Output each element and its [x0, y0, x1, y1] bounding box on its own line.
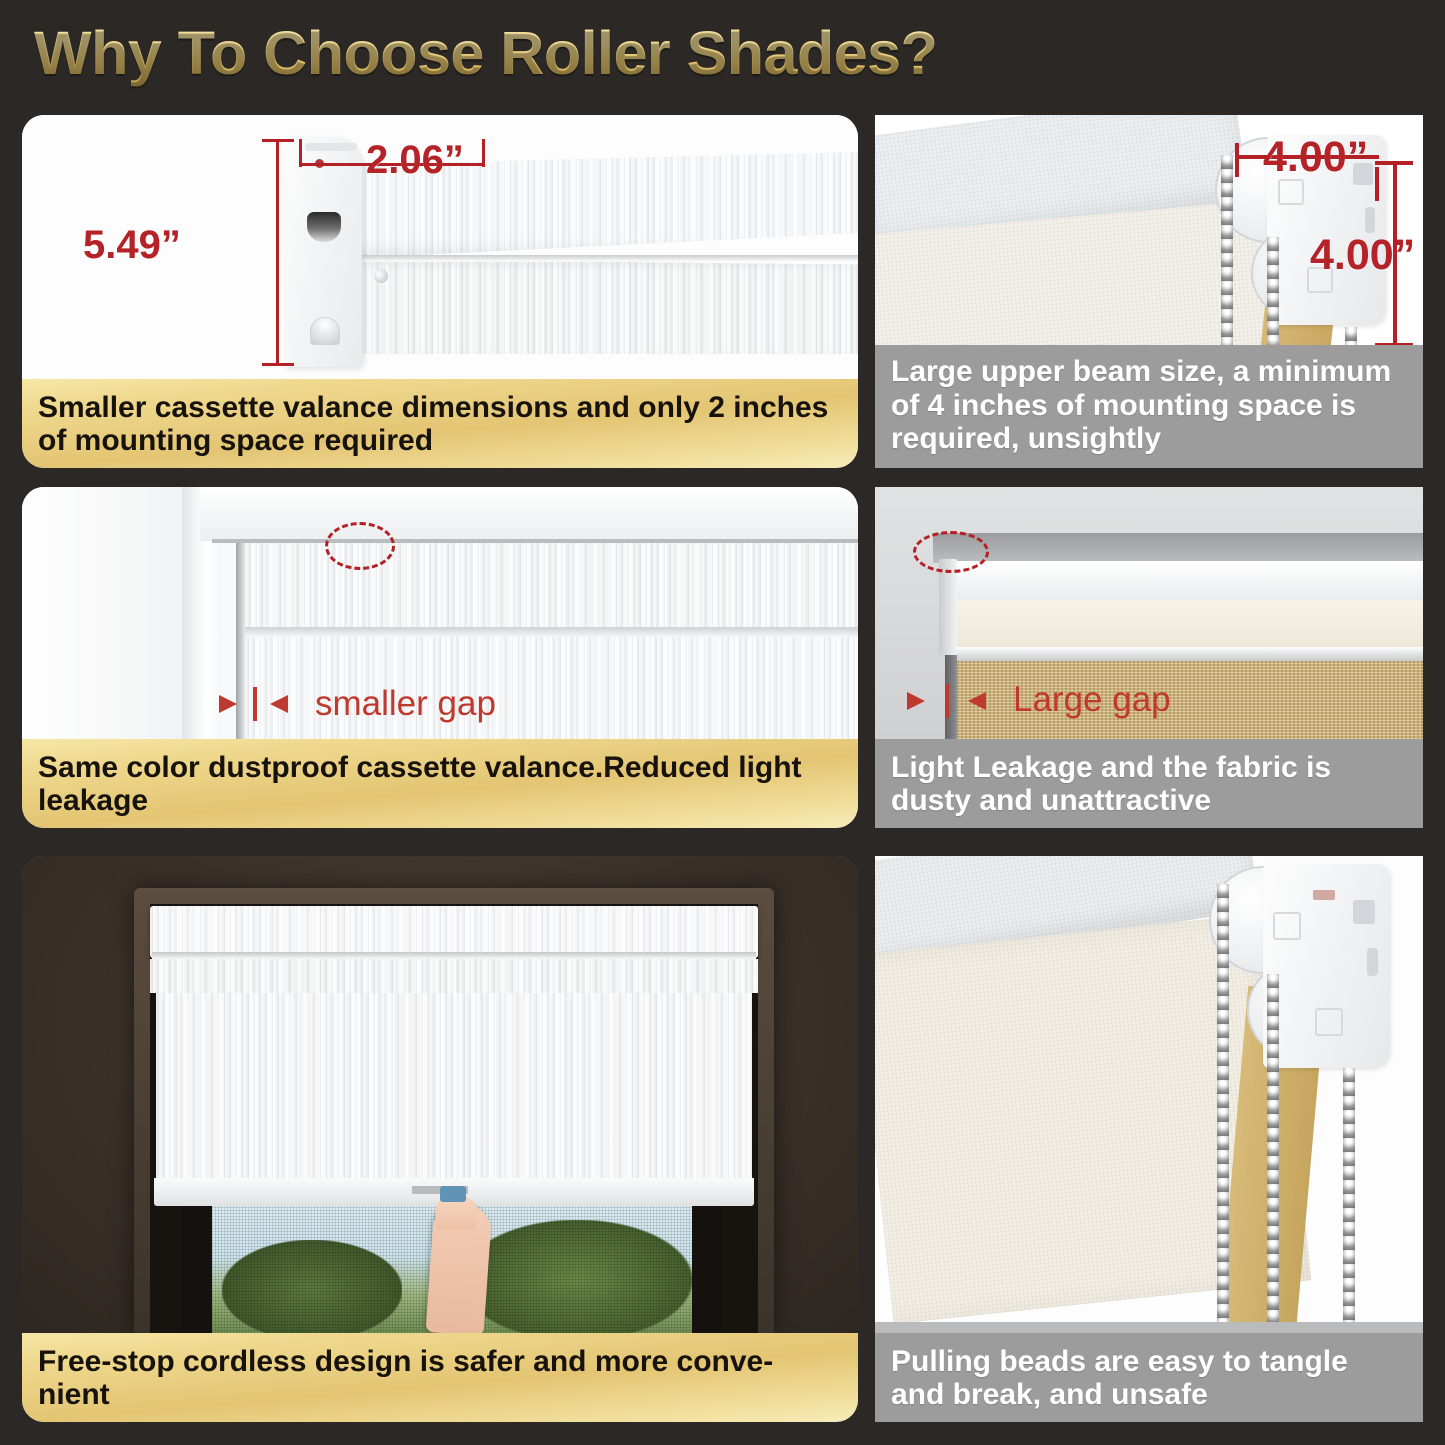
gap-tick	[253, 687, 257, 721]
shade-fabric	[156, 993, 752, 1184]
valance-bottom-edge	[951, 647, 1423, 661]
dim-beam-width-tick-right	[1375, 167, 1379, 201]
gap-callout-ellipse	[913, 531, 989, 573]
dim-height-tick-bottom	[262, 363, 294, 366]
beam-top-dark	[933, 533, 1423, 563]
mounting-bracket-small	[939, 559, 957, 655]
dim-width-tick-right	[482, 139, 485, 167]
bracket-slot-lower	[310, 317, 340, 345]
dim-beam-width-tick-left	[1235, 143, 1239, 177]
dim-beam-height-label: 4.00”	[1310, 231, 1415, 280]
photo-large-beam-dimensions: 4.00” 4.00”	[875, 115, 1423, 375]
bracket-plate-notch-b	[1367, 948, 1378, 976]
panel-middle-right: Large gap Light Leakage and the fabric i…	[875, 487, 1423, 828]
valance-lower-lip	[340, 259, 858, 354]
dim-width-tick-left	[299, 139, 302, 167]
bracket-slot-upper	[307, 212, 341, 242]
bead-chain-rear	[1343, 1068, 1355, 1334]
bead-chain-front	[1221, 155, 1233, 375]
gap-label-large: Large gap	[1013, 680, 1171, 720]
page-title: Why To Choose Roller Shades?	[34, 18, 937, 88]
bracket-icon-roll-up	[1278, 179, 1304, 205]
photo-dustproof-cassette-valance: smaller gap	[22, 487, 858, 742]
dim-beam-width-label: 4.00”	[1263, 133, 1368, 182]
shade-valance-lip	[150, 959, 758, 993]
dim-width-label: 2.06”	[366, 138, 464, 183]
infographic-root: Why To Choose Roller Shades? 2.06” 5.49”	[0, 0, 1445, 1445]
bracket-screw	[374, 269, 388, 283]
photo-cassette-valance-dimensions: 2.06” 5.49”	[22, 115, 858, 380]
end-cap-top-notch	[305, 143, 357, 151]
caption-bottom-right: Pulling beads are easy to tangle and bre…	[875, 1333, 1423, 1422]
dim-height-line	[276, 139, 279, 365]
gap-label-smaller: smaller gap	[315, 684, 496, 724]
bead-chain-middle	[1267, 974, 1279, 1334]
bracket-plate-notch-a	[1353, 900, 1375, 924]
panel-top-right: 4.00” 4.00” Large upper beam size, a min…	[875, 115, 1423, 468]
shade-valance-cassette	[150, 906, 758, 958]
beam-white-front	[939, 561, 1423, 603]
valance-groove	[344, 255, 858, 262]
bead-chain-front	[1217, 884, 1229, 1334]
panel-bottom-right: Pulling beads are easy to tangle and bre…	[875, 856, 1423, 1422]
dim-height-label: 5.49”	[83, 223, 181, 268]
caption-middle-right: Light Leakage and the fabric is dusty an…	[875, 739, 1423, 828]
window-mullion-left	[182, 1206, 212, 1334]
caption-bottom-left: Free-stop cordless design is safer and m…	[22, 1333, 858, 1422]
large-gap-tick	[945, 684, 949, 718]
gap-callout-circle	[325, 522, 395, 570]
large-gap-arrow-left	[907, 692, 925, 710]
shade-left-rail	[236, 543, 245, 742]
panel-bottom-left: Free-stop cordless design is safer and m…	[22, 856, 858, 1422]
caption-middle-left: Same color dustproof cassette valance.Re…	[22, 739, 858, 828]
valance-cream-face	[951, 600, 1423, 652]
window-mullion-right	[692, 1206, 722, 1334]
bracket-plate-slot	[1313, 890, 1335, 900]
shade-valance-shadow	[242, 627, 858, 637]
photo-pulling-beads	[875, 856, 1423, 1334]
dim-height-tick-top	[262, 139, 294, 142]
caption-top-right: Large upper beam size, a minimum of 4 in…	[875, 345, 1423, 468]
caption-top-left: Smaller cassette valance dimensions and …	[22, 379, 858, 468]
bracket-plate-notch-b	[1365, 207, 1375, 233]
large-gap-arrow-right	[968, 692, 986, 710]
bracket-icon-roll-down	[1315, 1008, 1343, 1036]
window-casing-outer	[22, 487, 202, 742]
gap-arrow-left	[219, 695, 237, 713]
photo-light-leakage: Large gap	[875, 487, 1423, 742]
shade-pull-handle	[440, 1186, 466, 1202]
panel-top-left: 2.06” 5.49” Smaller cassette valance dim…	[22, 115, 858, 468]
dim-beam-height-tick-top	[1375, 161, 1413, 165]
bracket-icon-roll-up	[1273, 912, 1301, 940]
photo-cordless-window-scene	[22, 856, 858, 1334]
gap-arrow-right	[270, 695, 288, 713]
window-casing-header	[200, 487, 858, 541]
panel-middle-left: smaller gap Same color dustproof cassett…	[22, 487, 858, 828]
